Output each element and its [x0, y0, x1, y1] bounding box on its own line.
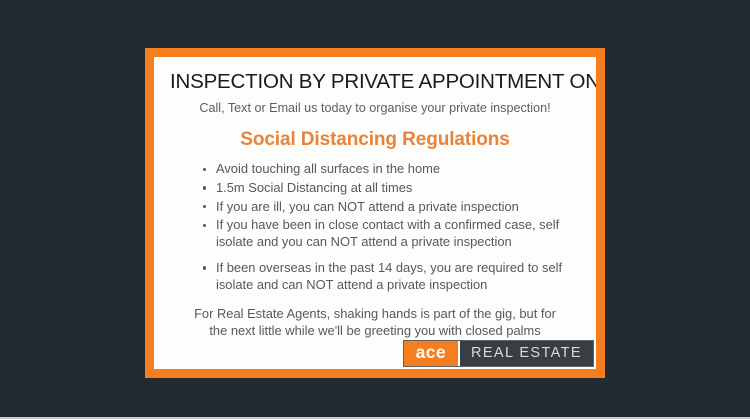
social-distancing-poster: INSPECTION BY PRIVATE APPOINTMENT ONLY C… [145, 48, 605, 378]
page-title: INSPECTION BY PRIVATE APPOINTMENT ONLY [170, 71, 580, 94]
list-item: 1.5m Social Distancing at all times [216, 180, 570, 197]
bullet-icon [203, 205, 206, 208]
list-item: If you are ill, you can NOT attend a pri… [216, 199, 570, 216]
poster-content-card: INSPECTION BY PRIVATE APPOINTMENT ONLY C… [154, 57, 596, 369]
list-item-label: Avoid touching all surfaces in the home [216, 161, 440, 176]
list-item: If been overseas in the past 14 days, yo… [216, 260, 570, 294]
list-item: If you have been in close contact with a… [216, 217, 570, 251]
list-item-label: If you have been in close contact with a… [216, 217, 559, 249]
logo-brand-mark: ace [404, 341, 458, 366]
poster-subheading: Call, Text or Email us today to organise… [170, 101, 580, 116]
list-item-label: 1.5m Social Distancing at all times [216, 180, 412, 195]
bullet-icon [203, 224, 206, 227]
section-title-social-distancing: Social Distancing Regulations [170, 129, 580, 151]
list-item-label: If you are ill, you can NOT attend a pri… [216, 199, 519, 214]
poster-backdrop: INSPECTION BY PRIVATE APPOINTMENT ONLY C… [0, 0, 750, 419]
ace-real-estate-logo: ace REAL ESTATE [404, 341, 593, 366]
list-item-label: If been overseas in the past 14 days, yo… [216, 260, 562, 292]
bullet-icon [203, 168, 206, 171]
bullet-icon [203, 266, 206, 269]
list-item: Avoid touching all surfaces in the home [216, 161, 570, 178]
social-distancing-rules-list: Avoid touching all surfaces in the home … [170, 161, 580, 293]
bullet-icon [203, 186, 206, 189]
logo-descriptor: REAL ESTATE [460, 341, 593, 366]
closing-paragraph: For Real Estate Agents, shaking hands is… [184, 305, 566, 339]
